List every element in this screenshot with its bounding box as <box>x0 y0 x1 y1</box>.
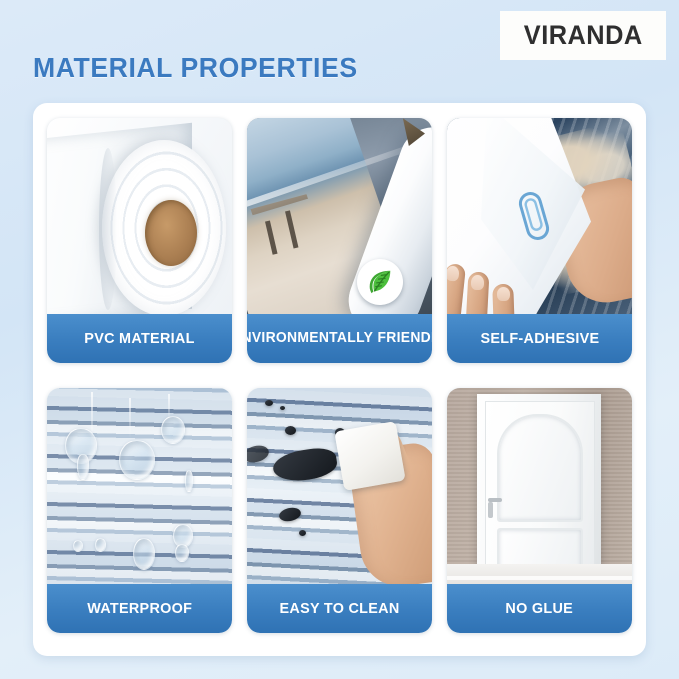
infographic-page: VIRANDA MATERIAL PROPERTIES PVC MATERIAL <box>0 0 679 679</box>
feature-label-text-line2: FRIENDLY <box>378 331 432 346</box>
feature-label-self-adhesive: SELF-ADHESIVE <box>447 314 632 363</box>
cleaning-cloth <box>334 421 405 491</box>
feature-label-text: PVC MATERIAL <box>84 331 194 347</box>
page-title: MATERIAL PROPERTIES <box>33 52 358 84</box>
feature-label-text-line1: ENVIRONMENTALLY <box>247 331 373 346</box>
feature-label-easy-to-clean: EASY TO CLEAN <box>247 584 432 633</box>
feature-grid: PVC MATERIAL <box>47 118 632 633</box>
self-adhesive-image <box>447 118 632 318</box>
easy-to-clean-image <box>247 388 432 588</box>
feature-label-text: WATERPROOF <box>87 601 192 617</box>
brand-logo: VIRANDA <box>500 11 666 60</box>
feature-label-text: SELF-ADHESIVE <box>480 331 599 347</box>
feature-card-pvc-material: PVC MATERIAL <box>47 118 232 363</box>
feature-label-waterproof: WATERPROOF <box>47 584 232 633</box>
brand-logo-text: VIRANDA <box>524 20 643 51</box>
feature-label-text: EASY TO CLEAN <box>279 601 399 617</box>
feature-card-environmentally-friendly: ENVIRONMENTALLY FRIENDLY <box>247 118 432 363</box>
feature-label-pvc-material: PVC MATERIAL <box>47 314 232 363</box>
eco-peel-image <box>247 118 432 318</box>
feature-card-no-glue: NO GLUE <box>447 388 632 633</box>
feature-label-environmentally-friendly: ENVIRONMENTALLY FRIENDLY <box>247 314 432 363</box>
feature-card-easy-to-clean: EASY TO CLEAN <box>247 388 432 633</box>
pvc-roll-image <box>47 118 232 318</box>
feature-card-self-adhesive: SELF-ADHESIVE <box>447 118 632 363</box>
hand-left <box>447 238 533 318</box>
leaf-icon <box>365 267 395 297</box>
waterproof-image <box>47 388 232 588</box>
feature-label-no-glue: NO GLUE <box>447 584 632 633</box>
feature-label-text: NO GLUE <box>506 601 574 617</box>
feature-card-waterproof: WATERPROOF <box>47 388 232 633</box>
eco-badge <box>357 259 403 305</box>
no-glue-image <box>447 388 632 588</box>
